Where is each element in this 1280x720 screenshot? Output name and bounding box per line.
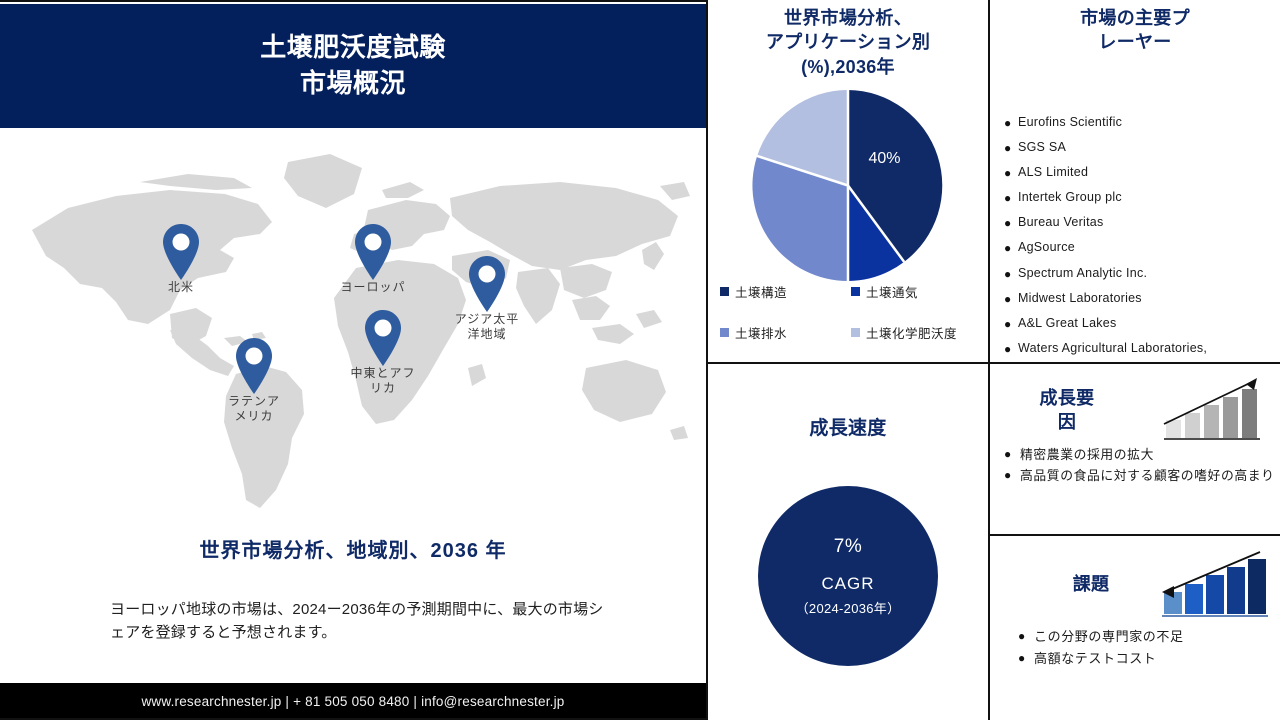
cagr-circle: 7% CAGR （2024-2036年） bbox=[758, 486, 938, 666]
player-name: A&L Great Lakes bbox=[1018, 316, 1116, 330]
bullet-icon: ● bbox=[1004, 318, 1012, 330]
infographic-page: 土壌肥沃度試験 市場概況 bbox=[0, 0, 1280, 720]
map-label-north-america: 北米 bbox=[168, 280, 194, 295]
legend-item-soil-drainage[interactable]: 土壌排水 bbox=[720, 323, 851, 342]
application-pie-panel: 世界市場分析、 アプリケーション別 (%),2036年 bbox=[708, 0, 988, 362]
map-label-middle-east-africa: 中東とアフリカ bbox=[350, 366, 416, 397]
player-name: SGS SA bbox=[1018, 140, 1066, 154]
legend-item-soil-chemical-fertility[interactable]: 土壌化学肥沃度 bbox=[851, 323, 982, 342]
players-title-line1: 市場の主要プ bbox=[1004, 6, 1266, 30]
list-item: ●AgSource bbox=[1018, 241, 1280, 254]
bullet-icon: ● bbox=[1018, 628, 1026, 645]
player-name: AgSource bbox=[1018, 240, 1075, 254]
map-pin-north-america[interactable]: 北米 bbox=[160, 222, 202, 282]
pie-title-line3: (%),2036年 bbox=[718, 55, 978, 79]
bullet-icon: ● bbox=[1004, 167, 1012, 179]
map-label-asia-pacific: アジア太平洋地域 bbox=[454, 312, 520, 343]
challenge-text: この分野の専門家の不足 bbox=[1034, 629, 1184, 644]
legend-swatch-icon bbox=[851, 287, 860, 296]
cagr-metric-label: CAGR bbox=[821, 574, 874, 594]
pie-panel-title: 世界市場分析、 アプリケーション別 (%),2036年 bbox=[718, 6, 978, 79]
player-name: Waters Agricultural Laboratories, bbox=[1018, 341, 1207, 355]
legend-label-soil-aeration: 土壌通気 bbox=[866, 282, 918, 301]
challenges-list: ●この分野の専門家の不足 ●高額なテストコスト bbox=[1010, 628, 1280, 673]
legend-label-soil-structure: 土壌構造 bbox=[735, 282, 787, 301]
legend-label-soil-chemical-fertility: 土壌化学肥沃度 bbox=[866, 323, 957, 342]
player-name: Bureau Veritas bbox=[1018, 215, 1104, 229]
challenges-panel-title: 課題 bbox=[1046, 572, 1136, 596]
left-column: 土壌肥沃度試験 市場概況 bbox=[0, 0, 706, 720]
pie-chart: 40% bbox=[751, 88, 946, 283]
world-map: 北米 ヨーロッパ アジア太平洋地域 bbox=[0, 128, 706, 528]
bullet-icon: ● bbox=[1004, 446, 1012, 463]
region-analysis-description: ヨーロッパ地球の市場は、2024ー2036年の予測期間中に、最大の市場シェアを登… bbox=[110, 598, 610, 645]
bullet-icon: ● bbox=[1004, 268, 1012, 280]
players-panel-title: 市場の主要プ レーヤー bbox=[1004, 6, 1266, 55]
header-banner: 土壌肥沃度試験 市場概況 bbox=[0, 4, 706, 128]
pie-data-label-40: 40% bbox=[869, 150, 901, 168]
player-name: Eurofins Scientific bbox=[1018, 115, 1122, 129]
cagr-panel-title: 成長速度 bbox=[718, 416, 978, 442]
ascending-bar-chart-gray-icon bbox=[1160, 372, 1268, 444]
location-pin-icon bbox=[362, 308, 404, 368]
pie-chart-svg bbox=[751, 88, 946, 283]
key-players-list: ●Eurofins Scientific ●SGS SA ●ALS Limite… bbox=[996, 116, 1280, 367]
list-item: ●高品質の食品に対する顧客の嗜好の高まり bbox=[1020, 467, 1280, 485]
challenge-text: 高額なテストコスト bbox=[1034, 651, 1156, 666]
growth-panel-title: 成長要 因 bbox=[1022, 386, 1112, 435]
footer-bar: www.researchnester.jp | + 81 505 050 848… bbox=[0, 683, 706, 720]
players-title-line2: レーヤー bbox=[1004, 30, 1266, 54]
cagr-period: （2024-2036年） bbox=[796, 598, 901, 617]
map-pin-europe[interactable]: ヨーロッパ bbox=[352, 222, 394, 282]
growth-driver-text: 高品質の食品に対する顧客の嗜好の高まり bbox=[1020, 468, 1275, 483]
growth-rate-panel: 成長速度 7% CAGR （2024-2036年） bbox=[708, 364, 988, 720]
bullet-icon: ● bbox=[1004, 217, 1012, 229]
bullet-icon: ● bbox=[1004, 117, 1012, 129]
map-pin-asia-pacific[interactable]: アジア太平洋地域 bbox=[466, 254, 508, 314]
header-title-line1: 土壌肥沃度試験 bbox=[260, 30, 446, 66]
bullet-icon: ● bbox=[1004, 467, 1012, 484]
legend-item-soil-aeration[interactable]: 土壌通気 bbox=[851, 282, 982, 301]
player-name: ALS Limited bbox=[1018, 165, 1088, 179]
legend-swatch-icon bbox=[720, 287, 729, 296]
legend-item-soil-structure[interactable]: 土壌構造 bbox=[720, 282, 851, 301]
list-item: ●精密農業の採用の拡大 bbox=[1020, 446, 1280, 464]
footer-contact-text: www.researchnester.jp | + 81 505 050 848… bbox=[141, 694, 564, 709]
pie-legend: 土壌構造 土壌通気 土壌排水 土壌化学肥沃度 bbox=[720, 282, 982, 342]
bullet-icon: ● bbox=[1004, 192, 1012, 204]
player-name: Midwest Laboratories bbox=[1018, 291, 1142, 305]
growth-drivers-list: ●精密農業の採用の拡大 ●高品質の食品に対する顧客の嗜好の高まり bbox=[996, 446, 1280, 488]
player-name: Spectrum Analytic Inc. bbox=[1018, 266, 1147, 280]
bullet-icon: ● bbox=[1004, 142, 1012, 154]
pie-title-line1: 世界市場分析、 bbox=[718, 6, 978, 30]
bullet-icon: ● bbox=[1004, 242, 1012, 254]
player-name: Intertek Group plc bbox=[1018, 190, 1122, 204]
map-label-latin-america: ラテンアメリカ bbox=[226, 394, 282, 425]
location-pin-icon bbox=[466, 254, 508, 314]
list-item: ●Spectrum Analytic Inc. bbox=[1018, 267, 1280, 280]
challenges-panel: 課題 ●この分野の専門家の不足 ●高額なテストコスト bbox=[990, 536, 1280, 720]
location-pin-icon bbox=[233, 336, 275, 396]
legend-swatch-icon bbox=[720, 328, 729, 337]
map-label-europe: ヨーロッパ bbox=[340, 280, 405, 295]
ascending-bar-chart-blue-icon bbox=[1156, 548, 1268, 620]
world-map-shapes bbox=[20, 138, 690, 518]
growth-driver-text: 精密農業の採用の拡大 bbox=[1020, 447, 1154, 462]
growth-title-line2: 因 bbox=[1022, 410, 1112, 434]
legend-swatch-icon bbox=[851, 328, 860, 337]
list-item: ●ALS Limited bbox=[1018, 166, 1280, 179]
list-item: ●SGS SA bbox=[1018, 141, 1280, 154]
list-item: ●Bureau Veritas bbox=[1018, 216, 1280, 229]
growth-drivers-panel: 成長要 因 ●精密農業の採用の拡大 ●高品質の食品に対する顧客の嗜好の高まり bbox=[990, 364, 1280, 534]
key-players-panel: 市場の主要プ レーヤー ●Eurofins Scientific ●SGS SA… bbox=[990, 0, 1280, 362]
list-item: ●A&L Great Lakes bbox=[1018, 317, 1280, 330]
location-pin-icon bbox=[160, 222, 202, 282]
cagr-value: 7% bbox=[834, 536, 862, 558]
region-analysis-title: 世界市場分析、地域別、2036 年 bbox=[0, 534, 706, 563]
header-title-line2: 市場概況 bbox=[300, 66, 406, 102]
growth-title-line1: 成長要 bbox=[1022, 386, 1112, 410]
list-item: ●Midwest Laboratories bbox=[1018, 292, 1280, 305]
list-item: ●Waters Agricultural Laboratories, bbox=[1018, 342, 1280, 355]
legend-label-soil-drainage: 土壌排水 bbox=[735, 323, 787, 342]
list-item: ●Intertek Group plc bbox=[1018, 191, 1280, 204]
list-item: ●Eurofins Scientific bbox=[1018, 116, 1280, 129]
bullet-icon: ● bbox=[1018, 650, 1026, 667]
list-item: ●この分野の専門家の不足 bbox=[1034, 628, 1280, 646]
location-pin-icon bbox=[352, 222, 394, 282]
pie-title-line2: アプリケーション別 bbox=[718, 30, 978, 54]
map-pin-latin-america[interactable]: ラテンアメリカ bbox=[233, 336, 275, 396]
bullet-icon: ● bbox=[1004, 293, 1012, 305]
bullet-icon: ● bbox=[1004, 343, 1012, 355]
list-item: ●高額なテストコスト bbox=[1034, 650, 1280, 668]
map-pin-middle-east-africa[interactable]: 中東とアフリカ bbox=[362, 308, 404, 368]
